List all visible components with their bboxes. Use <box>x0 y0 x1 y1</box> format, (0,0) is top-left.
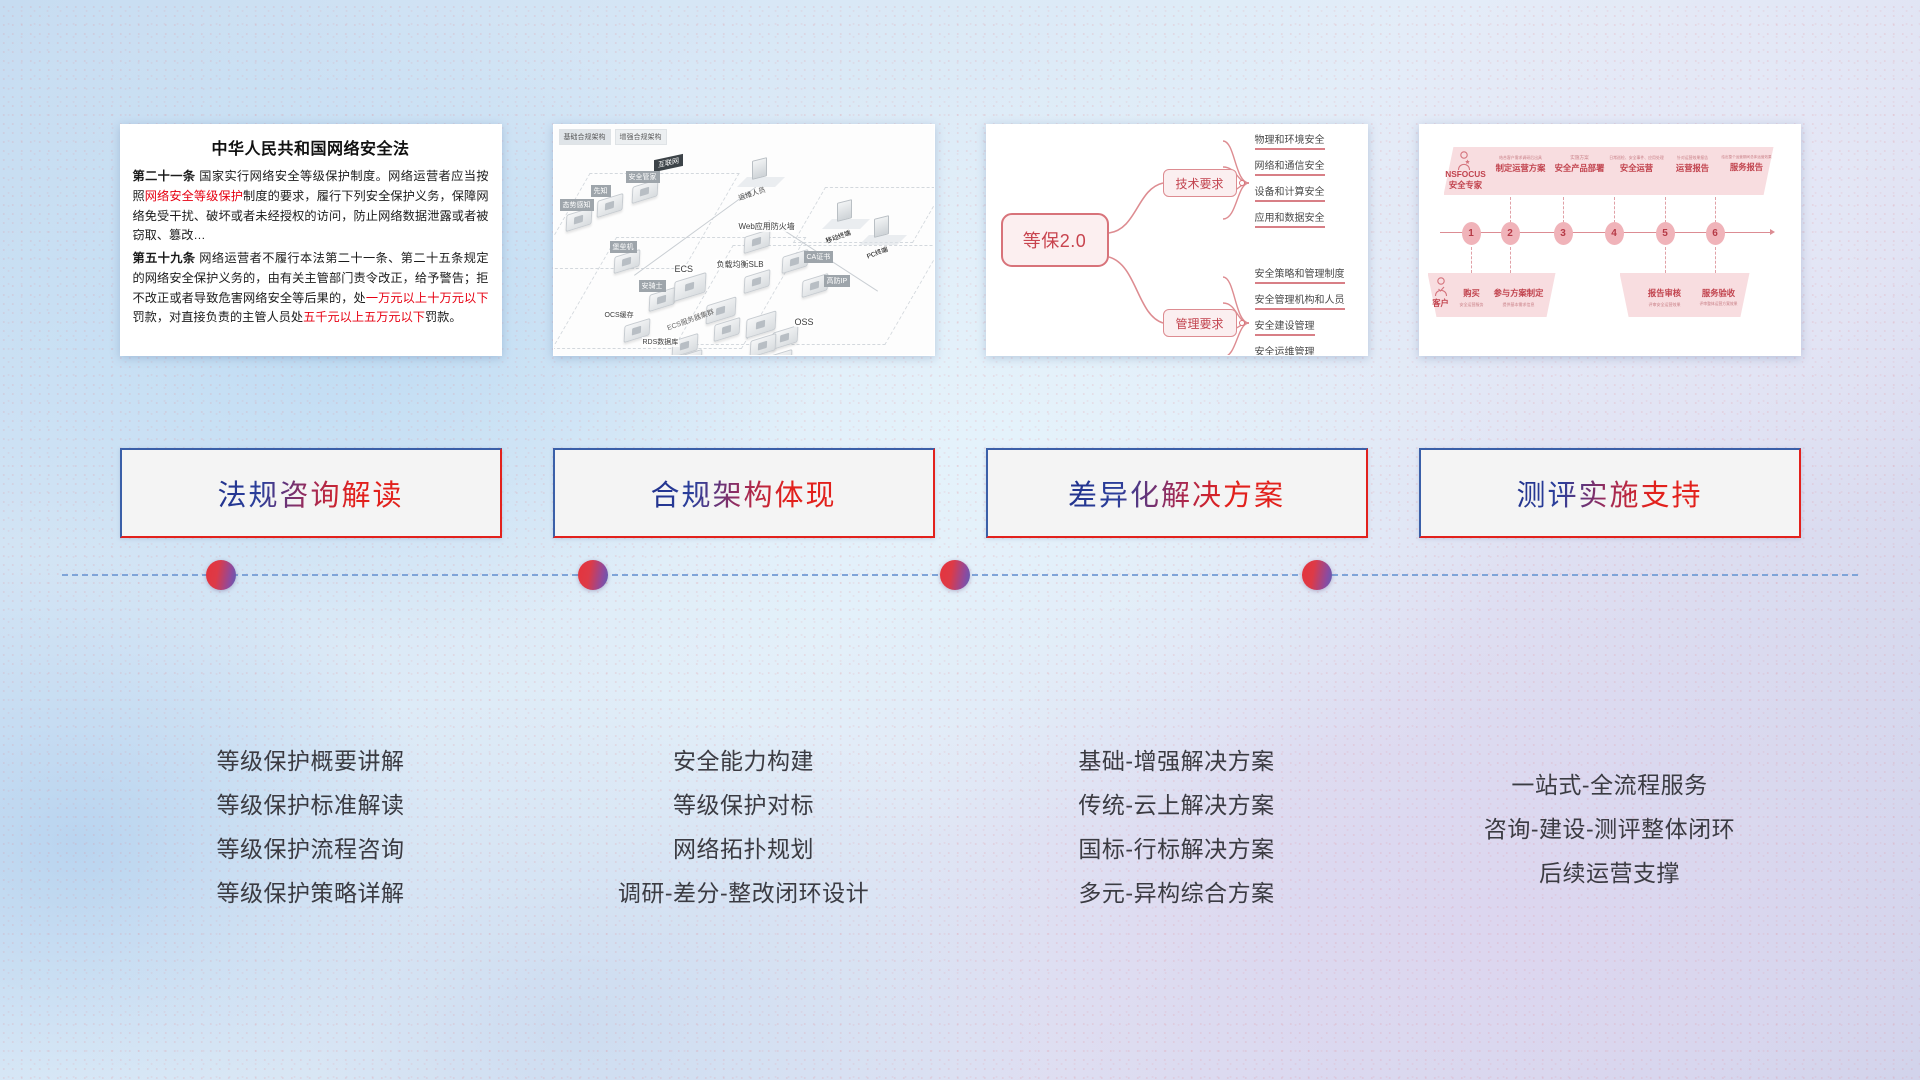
architecture-node-db-audit: 数据库审计 <box>676 353 702 356</box>
nsfocus-bottom-stage-4: 服务验收 评审整体运营方案效果 <box>1688 287 1750 308</box>
law-article-59-highlight-1: 一万元以上十万元以下 <box>366 291 489 305</box>
architecture-label-slb: 负载均衡SLB <box>716 259 765 270</box>
title-box-differentiated-solution[interactable]: 差异化解决方案 <box>986 448 1368 538</box>
title-label: 差异化解决方案 <box>1068 472 1285 514</box>
architecture-label-security-butler: 安全管家 <box>626 171 660 183</box>
mindmap-dot-management <box>1239 320 1245 326</box>
architecture-label-rds: RDS数据库 <box>642 337 680 347</box>
nsfocus-node-2: 2 <box>1501 222 1520 245</box>
architecture-node-anti-ddos: 高防IP <box>802 277 828 294</box>
stage-title: 制定运营方案 <box>1490 162 1552 174</box>
architecture-icon-ecs-cluster-d <box>749 333 776 356</box>
nsfocus-top-stage-5: 给出整个运营期间总体运营效果 服务报告 <box>1712 155 1782 173</box>
architecture-node-pc: PC终端 <box>874 217 889 236</box>
expert-role-line2: 安全专家 <box>1438 179 1494 191</box>
mindmap-leaf-device-security: 设备和计算安全 <box>1255 183 1325 202</box>
list-item: 基础-增强解决方案 <box>986 740 1368 784</box>
list-item: 传统-云上解决方案 <box>986 784 1368 828</box>
architecture-node-mobile: 移动终端 <box>837 201 852 220</box>
list-item: 网络拓扑规划 <box>553 828 935 872</box>
timeline-dot-2[interactable] <box>578 560 608 590</box>
card-cybersecurity-law[interactable]: 中华人民共和国网络安全法 第二十一条 国家实行网络安全等级保护制度。网络运营者应… <box>120 124 502 356</box>
nsfocus-tick-2 <box>1510 197 1511 223</box>
nsfocus-axis-arrow-icon <box>1770 229 1775 235</box>
architecture-label-ecs: ECS <box>674 264 695 274</box>
nsfocus-tick-bottom-2 <box>1510 247 1511 273</box>
architecture-node-ecs-cluster-b <box>714 321 740 338</box>
architecture-node-ecs: ECS <box>674 277 706 297</box>
list-item: 后续运营支撑 <box>1419 852 1801 896</box>
mindmap-leaf-security-policy: 安全策略和管理制度 <box>1255 265 1345 284</box>
architecture-node-slb: 负载均衡SLB <box>744 273 770 290</box>
timeline-dot-3[interactable] <box>940 560 970 590</box>
mindmap-leaf-label: 安全管理机构和人员 <box>1255 291 1345 310</box>
bullet-column-assessment-support: 一站式-全流程服务 咨询-建设-测评整体闭环 后续运营支撑 <box>1419 740 1801 916</box>
architecture-monitor-pc <box>874 215 889 238</box>
mindmap-leaf-application-security: 应用和数据安全 <box>1255 209 1325 228</box>
law-article-59-label: 第五十九条 <box>133 251 196 265</box>
card-nsfocus-service-timeline[interactable]: NSFOCUS 安全专家 结合客户需求调研后出具 制定运营方案 实施方案 安全产… <box>1419 124 1801 356</box>
customer-role-label: 客户 <box>1426 297 1456 309</box>
mindmap-leaf-construction-mgmt: 安全建设管理 <box>1255 317 1315 336</box>
customer-icon-svg <box>1433 277 1449 297</box>
architecture-zone-3 <box>792 187 934 243</box>
title-box-compliance-architecture[interactable]: 合规架构体现 <box>553 448 935 538</box>
expert-role-line1: NSFOCUS <box>1438 169 1494 179</box>
nsfocus-tick-6 <box>1715 197 1716 223</box>
title-label: 合规架构体现 <box>650 472 836 514</box>
mindmap-leaf-label: 网络和通信安全 <box>1255 157 1325 176</box>
customer-role-text: 客户 <box>1426 297 1456 309</box>
stage-title: 参与方案制定 <box>1488 287 1550 299</box>
mindmap-leaf-label: 安全运维管理 <box>1255 343 1315 356</box>
architecture-monitor-ops <box>752 157 767 180</box>
expert-role-label: NSFOCUS 安全专家 <box>1438 169 1494 191</box>
stage-title: 购买 <box>1454 287 1490 299</box>
architecture-label-situational-awareness: 态势感知 <box>560 199 594 211</box>
architecture-label-ca: CA证书 <box>804 251 834 263</box>
nsfocus-tick-bottom-6 <box>1715 247 1716 273</box>
title-box-assessment-support[interactable]: 测评实施支持 <box>1419 448 1801 538</box>
architecture-label-oss: OSS <box>794 317 815 327</box>
card-dengbao-mindmap[interactable]: 等保2.0 技术要求 物理和环境安全 网络和通信安全 设备和计算安全 应用和数据… <box>986 124 1368 356</box>
nsfocus-node-6: 6 <box>1706 222 1725 245</box>
bullet-column-regulation-consulting: 等级保护概要讲解 等级保护标准解读 等级保护流程咨询 等级保护策略详解 <box>120 740 502 916</box>
law-article-21: 第二十一条 国家实行网络安全等级保护制度。网络运营者应当按照网络安全等级保护制度… <box>133 167 489 246</box>
architecture-label-bastion: 堡垒机 <box>610 241 637 253</box>
stage-sub: 提供基本需求信息 <box>1488 302 1550 308</box>
stage-sub: 安全运营服务 <box>1454 302 1490 308</box>
timeline-row <box>0 560 1920 590</box>
mindmap-leaf-network-security: 网络和通信安全 <box>1255 157 1325 176</box>
preview-cards-row: 中华人民共和国网络安全法 第二十一条 国家实行网络安全等级保护制度。网络运营者应… <box>0 124 1920 356</box>
architecture-node-internet: 互联网 <box>654 157 683 169</box>
law-title: 中华人民共和国网络安全法 <box>133 135 489 159</box>
architecture-label-ocs: OCS缓存 <box>604 310 635 320</box>
mindmap-leaf-label: 物理和环境安全 <box>1255 131 1325 150</box>
mindmap-leaf-label: 安全策略和管理制度 <box>1255 265 1345 284</box>
expert-icon-svg <box>1456 151 1472 171</box>
architecture-label-anti-ddos: 高防IP <box>824 275 851 287</box>
bullet-column-differentiated-solution: 基础-增强解决方案 传统-云上解决方案 国标-行标解决方案 多元-异构综合方案 <box>986 740 1368 916</box>
architecture-label-waf: Web应用防火墙 <box>738 221 796 232</box>
architecture-tab-basic[interactable]: 基础合规架构 <box>559 129 611 145</box>
nsfocus-node-1: 1 <box>1462 222 1481 245</box>
mindmap-branch-technical: 技术要求 <box>1163 169 1237 197</box>
nsfocus-node-3: 3 <box>1554 222 1573 245</box>
stage-sub: 评审安全运营效果 <box>1636 302 1694 308</box>
architecture-node-xianzhi: 先知 <box>597 197 623 214</box>
nsfocus-tick-bottom-5 <box>1665 247 1666 273</box>
list-item: 等级保护策略详解 <box>120 872 502 916</box>
nsfocus-tick-5 <box>1665 197 1666 223</box>
architecture-node-situational-awareness: 态势感知 <box>566 211 592 228</box>
title-box-regulation-consulting[interactable]: 法规咨询解读 <box>120 448 502 538</box>
stage-sub: 评审整体运营方案效果 <box>1688 302 1750 307</box>
law-article-59-text-b: 罚款，对直接负责的主管人员处 <box>133 310 304 324</box>
nsfocus-node-5: 5 <box>1656 222 1675 245</box>
architecture-tab-enhanced[interactable]: 增强合规架构 <box>615 129 667 145</box>
mindmap-leaf-label: 设备和计算安全 <box>1255 183 1325 202</box>
architecture-label-xianzhi: 先知 <box>591 185 611 197</box>
list-item: 多元-异构综合方案 <box>986 872 1368 916</box>
architecture-node-anqishi: 安骑士 <box>649 291 675 308</box>
list-item: 咨询-建设-测评整体闭环 <box>1419 808 1801 852</box>
architecture-node-ops-staff: 运维人员 <box>752 159 767 178</box>
mindmap-leaf-security-org: 安全管理机构和人员 <box>1255 291 1345 310</box>
list-item: 等级保护流程咨询 <box>120 828 502 872</box>
bullet-columns-row: 等级保护概要讲解 等级保护标准解读 等级保护流程咨询 等级保护策略详解 安全能力… <box>0 740 1920 916</box>
mindmap-leaf-label: 安全建设管理 <box>1255 317 1315 336</box>
nsfocus-tick-3 <box>1563 197 1564 223</box>
stage-title: 报告审核 <box>1636 287 1694 299</box>
timeline-dot-4[interactable] <box>1302 560 1332 590</box>
mindmap-leaf-physical-security: 物理和环境安全 <box>1255 131 1325 150</box>
bullet-column-compliance-architecture: 安全能力构建 等级保护对标 网络拓扑规划 调研-差分-整改闭环设计 <box>553 740 935 916</box>
list-item: 等级保护概要讲解 <box>120 740 502 784</box>
law-article-21-label: 第二十一条 <box>133 169 196 183</box>
architecture-label-anqishi: 安骑士 <box>639 280 666 292</box>
card-compliance-architecture[interactable]: 基础合规架构 增强合规架构 运维人员 移动终端 <box>553 124 935 356</box>
law-article-59: 第五十九条 网络运营者不履行本法第二十一条、第二十五条规定的网络安全保护义务的，… <box>133 249 489 328</box>
architecture-node-security-butler: 安全管家 <box>632 183 658 200</box>
architecture-monitor-mobile <box>837 199 852 222</box>
mindmap-dot-technical <box>1239 180 1245 186</box>
list-item: 安全能力构建 <box>553 740 935 784</box>
architecture-label-ops-staff: 运维人员 <box>737 185 767 203</box>
architecture-node-bastion: 堡垒机 <box>614 253 640 270</box>
law-article-59-highlight-2: 五千元以上五万元以下 <box>303 310 425 324</box>
mindmap-leaf-ops-mgmt: 安全运维管理 <box>1255 343 1315 356</box>
stage-sub: 结合客户需求调研后出具 <box>1490 155 1552 161</box>
list-item: 调研-差分-整改闭环设计 <box>553 872 935 916</box>
list-item: 等级保护对标 <box>553 784 935 828</box>
nsfocus-bottom-stage-1: 购买 安全运营服务 <box>1454 287 1490 309</box>
nsfocus-bottom-stage-2: 参与方案制定 提供基本需求信息 <box>1488 287 1550 309</box>
nsfocus-top-stage-1: 结合客户需求调研后出具 制定运营方案 <box>1490 155 1552 174</box>
architecture-node-ecs-cluster-d <box>750 337 776 354</box>
list-item: 等级保护标准解读 <box>120 784 502 828</box>
title-label: 法规咨询解读 <box>217 472 403 514</box>
architecture-node-waf: Web应用防火墙 <box>744 233 770 250</box>
law-article-59-text-c: 罚款。 <box>425 310 462 324</box>
nsfocus-tick-bottom-1 <box>1471 247 1472 273</box>
title-label: 测评实施支持 <box>1516 472 1702 514</box>
list-item: 一站式-全流程服务 <box>1419 764 1801 808</box>
list-item: 国标-行标解决方案 <box>986 828 1368 872</box>
law-article-21-highlight: 网络安全等级保护 <box>145 189 243 203</box>
stage-title: 服务报告 <box>1712 161 1782 173</box>
nsfocus-tick-4 <box>1614 197 1615 223</box>
infographic-page: 中华人民共和国网络安全法 第二十一条 国家实行网络安全等级保护制度。网络运营者应… <box>0 0 1920 1080</box>
nsfocus-bottom-stage-3: 报告审核 评审安全运营效果 <box>1636 287 1694 309</box>
mindmap-branch-management: 管理要求 <box>1163 309 1237 337</box>
mindmap-leaf-label: 应用和数据安全 <box>1255 209 1325 228</box>
nsfocus-node-4: 4 <box>1605 222 1624 245</box>
section-titles-row: 法规咨询解读 合规架构体现 差异化解决方案 测评实施支持 <box>0 448 1920 538</box>
mindmap-root: 等保2.0 <box>1001 213 1109 267</box>
architecture-tabs[interactable]: 基础合规架构 增强合规架构 <box>559 129 667 145</box>
architecture-node-ca: CA证书 <box>782 253 808 270</box>
stage-title: 服务验收 <box>1688 287 1750 299</box>
timeline-dot-1[interactable] <box>206 560 236 590</box>
architecture-node-ecs-cluster-c <box>746 315 776 334</box>
architecture-label-internet: 互联网 <box>654 154 683 172</box>
stage-sub: 给出整个运营期间总体运营效果 <box>1712 155 1782 160</box>
